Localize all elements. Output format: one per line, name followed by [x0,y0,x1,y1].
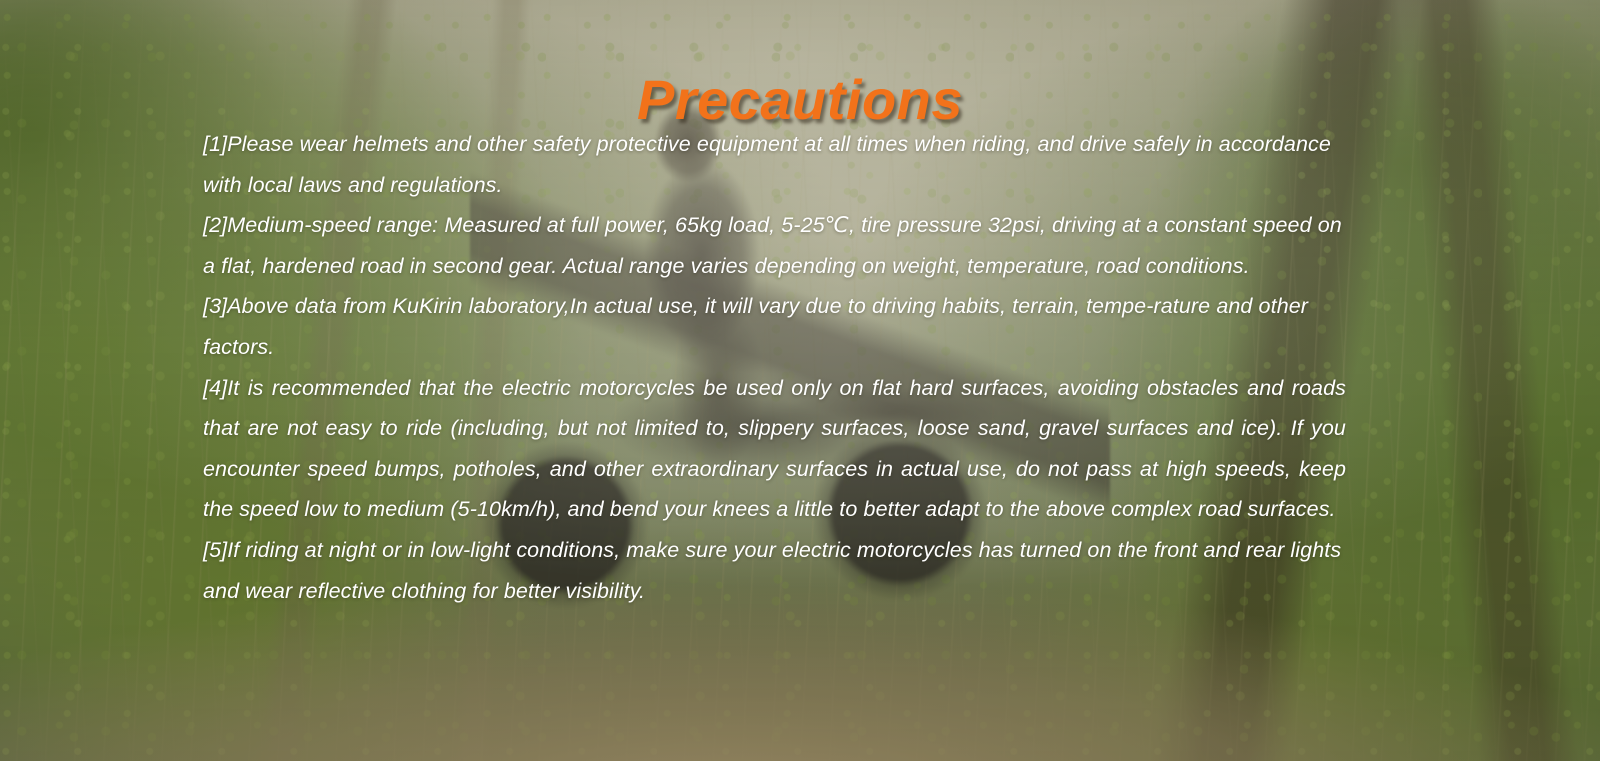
precaution-item-5: [5]If riding at night or in low-light co… [203,530,1346,611]
banner-content: Precautions [1]Please wear helmets and o… [0,0,1600,761]
page-title: Precautions [0,72,1600,128]
precaution-item-1: [1]Please wear helmets and other safety … [203,124,1346,205]
precaution-item-4: [4]It is recommended that the electric m… [203,368,1346,530]
precaution-item-2: [2]Medium-speed range: Measured at full … [203,205,1346,286]
precautions-banner: Precautions [1]Please wear helmets and o… [0,0,1600,761]
precaution-list: [1]Please wear helmets and other safety … [203,124,1346,611]
precaution-item-3: [3]Above data from KuKirin laboratory,In… [203,286,1346,367]
